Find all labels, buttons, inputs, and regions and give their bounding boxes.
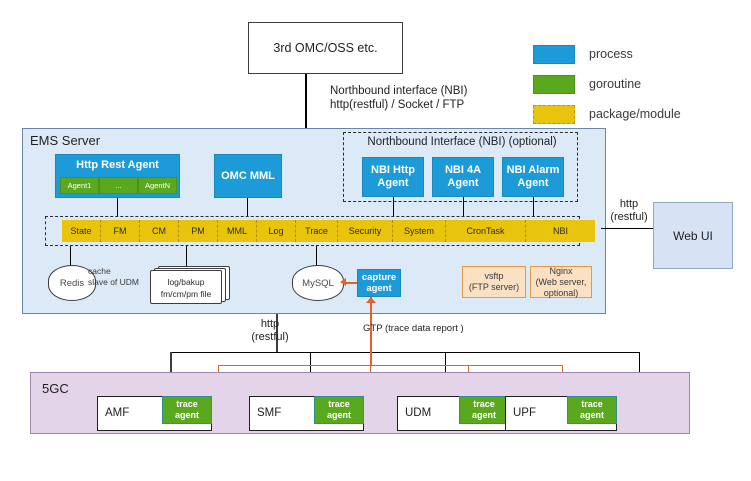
connector-http-rest-agent-to-modules (117, 198, 118, 216)
goroutine-agent-ellipsis: ... (99, 177, 138, 194)
module-fm[interactable]: FM (101, 220, 140, 242)
capture-agent-line1: capture (362, 272, 396, 283)
http-rest-agent-box: Http Rest Agent Agent1 ... AgentN (55, 154, 180, 198)
redis-cache-note: cache slave of UDM (88, 266, 158, 288)
module-state[interactable]: State (62, 220, 101, 242)
connector-omc-mml-to-modules (247, 198, 248, 216)
capture-agent-box: capture agent (357, 269, 401, 297)
trace-agent-amf: trace agent (162, 396, 212, 424)
trace-agent-smf-line1: trace (328, 399, 350, 409)
nginx-line3: optional) (536, 288, 587, 299)
legend-item-process: process (533, 42, 748, 66)
trace-agent-udm: trace agent (459, 396, 509, 424)
connector-modules-to-file-storage (186, 246, 187, 268)
file-storage-line1: log/bakup (151, 277, 221, 288)
network-function-smf: SMF trace agent (249, 396, 364, 431)
network-function-upf: UPF trace agent (505, 396, 617, 431)
amf-label: AMF (105, 407, 129, 419)
nbi-4a-agent-label: NBI 4A Agent (433, 164, 493, 190)
connector-modules-to-redis (70, 246, 71, 267)
arrowhead-capture-agent-to-mysql-icon (340, 278, 346, 286)
legend-item-package-module: package/module (533, 102, 748, 126)
http-bus-horizontal (170, 352, 640, 353)
module-bar: StateFMCMPMMMLLogTraceSecuritySystemCron… (62, 220, 595, 242)
http-rest-agent-title: Http Rest Agent (56, 159, 179, 172)
connector-nbi-alarm-agent-to-modules (533, 197, 534, 216)
legend-swatch-process-icon (533, 45, 575, 64)
network-function-amf: AMF trace agent (97, 396, 212, 431)
http-rest-agent-goroutines: Agent1 ... AgentN (60, 177, 177, 194)
vsftp-line1: vsftp (469, 271, 519, 282)
nbi-alarm-agent-label: NBI Alarm Agent (503, 164, 563, 190)
connector-ems-to-web-ui (601, 228, 653, 229)
legend: process goroutine package/module (533, 42, 748, 132)
goroutine-agentn: AgentN (138, 177, 177, 194)
omc-mml-label: OMC MML (221, 170, 275, 183)
mysql-label: MySQL (302, 278, 334, 289)
third-party-omc-oss-label: 3rd OMC/OSS etc. (273, 41, 377, 55)
module-log[interactable]: Log (257, 220, 296, 242)
trace-agent-upf-line2: agent (580, 410, 604, 420)
module-pm[interactable]: PM (179, 220, 218, 242)
legend-label-package-module: package/module (589, 107, 681, 121)
module-mml[interactable]: MML (218, 220, 257, 242)
module-security[interactable]: Security (338, 220, 393, 242)
goroutine-agent1: Agent1 (60, 177, 99, 194)
connector-nbi-4a-agent-to-modules (463, 197, 464, 216)
web-ui-box: Web UI (653, 202, 733, 269)
fivegc-title: 5GC (42, 381, 69, 396)
module-nbi[interactable]: NBI (526, 220, 595, 242)
northbound-interface-link-label: Northbound interface (NBI) http(restful)… (330, 84, 560, 112)
nginx-line1: Nginx (536, 266, 587, 277)
ems-server-title: EMS Server (30, 133, 100, 148)
redis-cache-note-line2: slave of UDM (88, 277, 158, 288)
legend-swatch-package-module-icon (533, 105, 575, 124)
connector-nbi-http-agent-to-modules (393, 197, 394, 216)
udm-label: UDM (405, 407, 431, 419)
mysql-datastore: MySQL (292, 265, 344, 301)
nbi-http-agent-label: NBI Http Agent (363, 164, 423, 190)
trace-agent-smf-line2: agent (327, 410, 351, 420)
legend-item-goroutine: goroutine (533, 72, 748, 96)
capture-agent-line2: agent (362, 283, 396, 294)
trace-agent-amf-line2: agent (175, 410, 199, 420)
nbi-link-line2: http(restful) / Socket / FTP (330, 98, 560, 112)
nginx-server-box: Nginx (Web server, optional) (530, 266, 592, 298)
trace-agent-upf-line1: trace (581, 399, 603, 409)
module-trace[interactable]: Trace (296, 220, 338, 242)
web-ui-label: Web UI (673, 229, 713, 243)
network-function-udm: UDM trace agent (397, 396, 509, 431)
module-cm[interactable]: CM (140, 220, 179, 242)
nbi-optional-group-title: Northbound Interface (NBI) (optional) (352, 136, 572, 148)
vsftp-server-box: vsftp (FTP server) (462, 266, 526, 298)
nbi-4a-agent-box: NBI 4A Agent (432, 157, 494, 197)
redis-cache-note-line1: cache (88, 266, 158, 277)
legend-swatch-goroutine-icon (533, 75, 575, 94)
gtp-bus-horizontal (218, 365, 563, 366)
nbi-http-agent-box: NBI Http Agent (362, 157, 424, 197)
web-ui-link-line1: http (606, 198, 652, 211)
vsftp-line2: (FTP server) (469, 282, 519, 293)
ems-to-5gc-http-line1: http (246, 318, 294, 331)
nginx-line2: (Web server, (536, 277, 587, 288)
web-ui-link-line2: (restful) (606, 211, 652, 224)
third-party-omc-oss-box: 3rd OMC/OSS etc. (248, 22, 403, 74)
nbi-alarm-agent-box: NBI Alarm Agent (502, 157, 564, 197)
file-storage-line2: fm/cm/pm file (151, 289, 221, 300)
trace-agent-udm-line2: agent (472, 410, 496, 420)
file-storage-stack: log/bakup fm/cm/pm file (150, 266, 228, 301)
file-doc-front-icon: log/bakup fm/cm/pm file (150, 270, 222, 304)
smf-label: SMF (257, 407, 281, 419)
redis-label: Redis (60, 278, 84, 289)
connector-modules-to-mysql (316, 246, 317, 267)
ems-to-5gc-http-label: http (restful) (246, 318, 294, 344)
upf-label: UPF (513, 407, 536, 419)
trace-agent-udm-line1: trace (473, 399, 495, 409)
gtp-trace-data-label: GTP (trace data report ) (363, 323, 464, 334)
arrowhead-gtp-to-capture-agent-icon (366, 297, 376, 303)
omc-mml-box: OMC MML (214, 154, 282, 198)
trace-agent-upf: trace agent (567, 396, 617, 424)
connector-third-party-to-ems (305, 74, 307, 128)
module-crontask[interactable]: CronTask (446, 220, 526, 242)
nbi-link-line1: Northbound interface (NBI) (330, 84, 560, 98)
legend-label-process: process (589, 47, 633, 61)
ems-to-5gc-http-line2: (restful) (246, 331, 294, 344)
module-system[interactable]: System (393, 220, 446, 242)
legend-label-goroutine: goroutine (589, 77, 641, 91)
trace-agent-amf-line1: trace (176, 399, 198, 409)
web-ui-link-label: http (restful) (606, 198, 652, 224)
trace-agent-smf: trace agent (314, 396, 364, 424)
